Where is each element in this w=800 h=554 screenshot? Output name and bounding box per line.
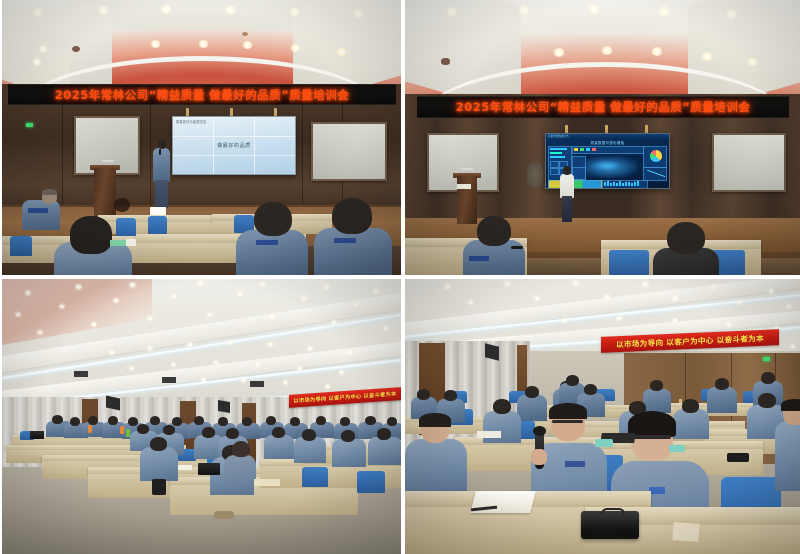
ceiling-light [32,58,42,66]
ceiling-pin-light [130,367,133,370]
attendee-head [682,399,699,413]
dashboard-bar [631,183,633,186]
desk-phone[interactable] [727,453,749,462]
ceiling-pin-light [38,331,42,334]
ceiling-pin-light [727,323,731,326]
audience-chair [116,218,136,236]
desk-paper [477,431,501,438]
attendee-head [202,427,215,438]
ceiling-pin-light [92,323,96,326]
attendee-figure-foreground [405,439,467,495]
ceiling-pin-light [326,385,329,388]
attendee-head [584,384,597,395]
exit-sign [26,123,33,127]
ceiling-pin-light [298,367,301,370]
ceiling-pin-light [228,341,232,344]
ceiling-light [97,5,110,15]
attendee-glasses-icon [552,420,583,423]
dashboard-status-strip [548,180,602,189]
photo-panel-top-right[interactable]: 2025年常林公司“精益质量 做最好的品质”质量培训会 质量管理数据平台 质量数… [405,0,800,275]
attendee-head [108,416,118,425]
lectern-microphone-icon [102,160,114,162]
ceiling-light [587,4,601,14]
desk-paper-sheet [672,522,699,542]
dashboard-bar [604,182,606,186]
ceiling-speaker [162,377,176,383]
dashboard-bar [613,182,615,187]
attendee-head [340,417,350,426]
ceiling-pin-light [110,351,114,354]
attendee-row [332,439,366,467]
attendee-head [444,390,457,401]
desk-cloth [669,445,685,452]
attendee-head [365,416,376,425]
attendee-head [232,441,250,457]
ceiling-light [160,4,173,14]
attendee-head [272,427,285,438]
attendee-hand [531,449,547,465]
ceiling-sensor [242,32,248,36]
desk-laptop[interactable] [198,463,220,475]
microphone-head [533,426,546,436]
audience-chair [609,250,649,275]
ceiling-downlight [198,40,209,48]
presenter-legs [155,180,168,208]
led-banner-top-right: 2025年常林公司“精益质量 做最好的品质”质量培训会 [417,96,789,118]
ceiling-speaker [441,58,450,65]
slide-body-text: 做最好的品质 [173,142,295,149]
attendee-figure [483,411,521,443]
ceiling-pin-light [711,285,716,289]
dashboard-bar [616,183,618,187]
ceiling-light [445,7,459,17]
attendee-head [70,417,80,426]
attendee-head [377,428,391,440]
ceiling-speaker [218,400,230,413]
ceiling-pin-light [130,283,135,287]
attendee-head [163,425,175,435]
attendee-head [566,375,579,386]
attendee-figure [314,228,392,275]
ceiling-light [38,45,48,53]
ceiling-downlight [336,48,347,56]
led-banner-text: 2025年常林公司“精益质量 做最好的品质”质量培训会 [55,87,350,103]
ceiling-pin-light [208,313,212,316]
dashboard-bar [637,181,639,186]
attendee-head [254,202,292,236]
dashboard-bar [586,148,590,151]
desk-cloth [595,439,613,447]
projection-screen-right [712,133,786,192]
ceiling-pin-light [673,297,677,300]
ceiling-downlight [290,44,301,52]
attendee-figure-foreground [224,455,256,485]
ceiling-downlight [553,48,565,57]
dashboard-title-text: 质量数据可视化看板 [546,140,669,145]
dashboard-bar [580,148,584,151]
desk-microphone [511,246,523,249]
attendee-head [758,393,776,408]
dashboard-bar [610,183,612,186]
attendee-head [341,430,355,442]
attendee-row [264,435,294,459]
attendee-figure-foreground [140,447,178,481]
ceiling-speaker [72,46,80,52]
dashboard-bar [592,148,596,151]
ceiling-pin-light [563,319,567,322]
dashboard-bar [634,182,636,186]
ceiling-pin-light [238,293,242,296]
ceiling-pin-light [354,303,358,306]
attendee-glasses-icon [495,406,509,408]
attendee-head [290,417,300,426]
dashboard-bar [607,181,609,186]
photo-panel-bottom-left[interactable]: 以市场为导向 以客户为中心 以奋斗者为本 [2,279,401,554]
ceiling-pin-light [26,291,30,295]
attendee-hair [42,189,57,195]
ceiling-light [517,5,531,15]
audience-chair [10,236,32,256]
attendee-badge [565,461,585,467]
ceiling-pin-light [374,289,378,293]
attendee-head [477,216,511,246]
dashboard-bar [625,182,627,186]
ceiling-downlight [651,47,663,56]
attendee-figure [22,200,60,230]
attendee-glasses-icon [633,435,671,439]
attendee-head [150,416,160,425]
ceiling-pin-light [60,305,64,308]
dashboard-bar [574,148,578,151]
attendee-figure [775,421,800,491]
presenter-figure [153,148,170,182]
ceiling-pin-light [284,381,287,384]
attendee-head [52,415,63,424]
desk-waterbottle [88,425,92,433]
photo-collage: 2025年常林公司“精益质量 做最好的品质”质量培训会 质量意识与品质文化 做最… [0,0,800,554]
ceiling-pin-light [172,363,175,366]
attendee-hair [549,403,587,419]
desk-laptop[interactable] [30,431,44,439]
attendee-head [715,378,729,390]
attendee-head [387,417,397,426]
presenter-head [563,166,571,175]
lectern-nameplate [457,184,471,189]
attendee-head [302,429,316,441]
photo-panel-top-left[interactable]: 2025年常林公司“精益质量 做最好的品质”质量培训会 质量意识与品质文化 做最… [2,0,401,275]
ceiling-light [352,9,364,19]
attendee-hair [419,413,451,427]
attendee-shoes [152,479,166,495]
ceiling-pin-light [302,297,306,300]
ceiling-pin-light [308,347,312,350]
desk-paper [126,239,136,246]
ceiling-pin-light [505,282,510,286]
dashboard-map-graphic [590,160,622,171]
ceiling-pin-light [76,285,81,289]
ceiling-pin-light [617,317,621,320]
attendee-head [150,437,167,451]
audience-chair [357,471,385,493]
ceiling-pin-light [268,343,272,346]
attendee-head [70,216,112,254]
desk-waterbottle [126,429,130,437]
attendee-row [368,437,401,465]
dashboard-bar [550,156,565,158]
ceiling-pin-light [787,305,791,308]
ceiling-pin-light [769,289,773,293]
attendee-figure [643,389,671,413]
dashboard-bar [619,181,621,186]
attendee-head [88,416,98,425]
attendee-head [650,380,663,391]
ceiling-pin-light [114,299,118,302]
desk-nameplate [150,207,166,215]
desk-paper [254,479,280,486]
dashboard-bar [550,152,562,154]
attendee-head [332,198,372,234]
lectern [94,168,116,220]
attendee-head [194,416,204,425]
desk-laptop-bag[interactable] [581,511,639,539]
ceiling-pin-light [791,345,794,348]
audience-chair [302,467,328,487]
attendee-head [242,417,252,426]
main-presentation-screen[interactable]: 质量意识与品质文化 做最好的品质 [172,116,296,175]
desk-paper [110,240,126,246]
attendee-head [525,386,539,398]
ceiling-light [657,6,671,16]
ceiling-pin-light [148,317,152,320]
ceiling-speaker [250,381,264,387]
exit-sign [763,357,770,361]
ceiling-pin-light [643,282,648,286]
ceiling-pin-light [573,281,578,285]
attendee-head [667,222,705,254]
led-banner-text: 2025年常林公司“精益质量 做最好的品质”质量培训会 [456,99,751,115]
lectern-microphone-icon [461,168,473,170]
attendee-head [172,417,182,426]
photo-panel-bottom-right[interactable]: 以市场为导向 以客户为中心 以奋斗者为本 [405,279,800,554]
dashboard-line-chart [647,170,665,177]
ceiling-pin-light [242,379,245,382]
ceiling-pin-light [324,285,329,289]
ceiling-pin-light [384,327,388,330]
presenter-head [158,139,166,149]
attendee-hair [781,399,800,411]
ceiling-pin-light [148,347,152,350]
ceiling-pin-light [260,282,265,286]
desk-waterbottle [120,426,124,434]
attendee-head [218,417,228,426]
ceiling-downlight [601,46,613,55]
attendee-shoes [214,511,234,519]
ceiling-pin-light [340,371,343,374]
attendee-logo-badge [256,240,278,245]
ceiling-pin-light [270,315,274,318]
attendee-head [761,372,775,384]
ceiling-pin-light [16,313,20,316]
audience-desk-front [170,485,358,515]
dashboard-pie-chart [650,150,662,162]
attendee-head [128,417,138,426]
lectern-shadow [114,198,130,212]
attendee-figure [673,409,709,439]
dashboard-panel-left2 [572,167,586,180]
attendee-head [266,416,276,425]
led-banner-top-left: 2025年常林公司“精益质量 做最好的品质”质量培训会 [8,84,396,105]
attendee-head [226,428,239,439]
attendee-logo-badge [28,208,48,213]
ceiling-pin-light [469,301,473,304]
ceiling-light [725,9,738,19]
presenter-microphone-icon [159,149,161,155]
ceiling-pin-light [214,361,217,364]
ceiling-pin-light [535,297,539,300]
attendee-head [417,389,430,400]
projection-screen-right [311,122,387,181]
ceiling-pin-light [605,295,609,298]
ceiling-pin-light [332,321,336,324]
dashboard-header-text: 质量管理数据平台 [548,134,569,138]
attendee-logo-badge [334,238,356,243]
attendee-head [137,424,149,434]
attendee-figure [236,230,308,275]
ceiling-pin-light [445,285,450,289]
attendee-head [316,416,326,425]
ceiling-pin-light [188,343,192,346]
ceiling-downlight [150,40,161,48]
ceiling-pin-light [172,295,176,298]
ceiling-speaker [74,371,88,377]
ceiling-downlight [701,52,713,61]
desk-paper [178,465,192,470]
stage-decor-plant [527,162,543,188]
ceiling-pin-light [202,379,205,382]
attendee-figure [707,387,737,413]
ceiling-pin-light [256,363,259,366]
presenter-figure [560,174,574,198]
ceiling-light [224,5,237,15]
attendee-badge [649,487,665,494]
ceiling-downlight [747,58,758,66]
presenter-legs [562,196,572,222]
dashboard-kpi-tile [550,168,559,175]
attendee-logo-badge [469,256,489,261]
ceiling-light [288,7,301,17]
ceiling-pin-light [198,281,203,285]
ceiling-light [32,8,44,17]
dashboard-kpi-tile [550,161,559,168]
ceiling-pin-light [673,319,677,322]
audience-chair [148,216,167,234]
ceiling-downlight [242,41,253,49]
attendee-figure [517,395,547,421]
dashboard-bar [622,183,624,186]
ceiling-pin-light [737,301,741,304]
slide-title-text: 质量意识与品质文化 [176,119,207,124]
laptop-bag-handle [601,508,625,514]
dashboard-bar [628,182,630,187]
ceiling-pin-light [348,351,352,354]
dashboard-bar [550,148,567,150]
